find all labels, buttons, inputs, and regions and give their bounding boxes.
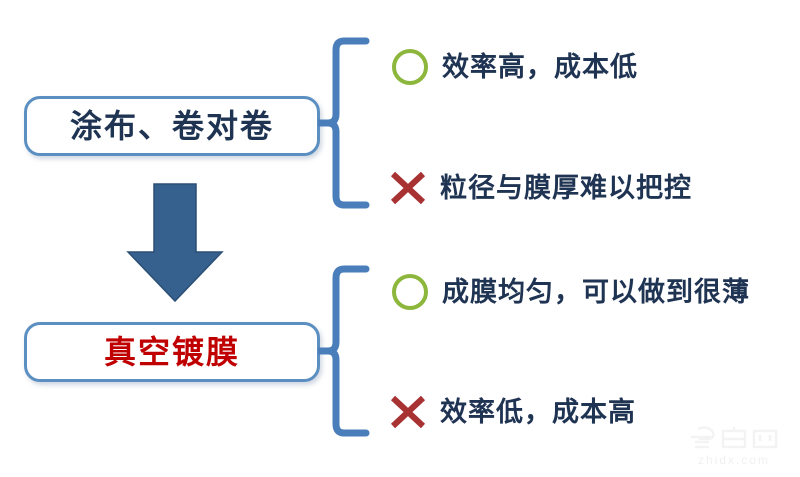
list-item-label: 效率高，成本低 (442, 54, 638, 81)
cross-con-icon (386, 166, 430, 210)
list-item-label: 成膜均匀，可以做到很薄 (442, 279, 750, 306)
watermark-url: zhidx.com (698, 454, 770, 466)
node-box-vacuum[interactable]: 真空镀膜 (24, 322, 320, 382)
circle-pro-icon (388, 270, 432, 314)
down-arrow-icon (120, 180, 230, 305)
list-item: 成膜均匀，可以做到很薄 (388, 270, 750, 314)
diagram-canvas: 涂布、卷对卷 真空镀膜 效率高，成本低 粒径与膜厚难以把控 成 (0, 0, 800, 477)
brace-bottom-icon (318, 264, 378, 438)
list-item: 效率低，成本高 (386, 390, 636, 434)
watermark: zhidx.com (676, 418, 792, 470)
list-item: 效率高，成本低 (388, 45, 638, 89)
node-label-vacuum: 真空镀膜 (104, 336, 240, 368)
node-label-coating: 涂布、卷对卷 (70, 110, 274, 142)
cross-con-icon (386, 390, 430, 434)
list-item-label: 效率低，成本高 (440, 399, 636, 426)
circle-pro-icon (388, 45, 432, 89)
node-box-coating[interactable]: 涂布、卷对卷 (24, 96, 320, 156)
list-item-label: 粒径与膜厚难以把控 (440, 175, 692, 202)
zhidx-logo-icon (686, 423, 782, 453)
list-item: 粒径与膜厚难以把控 (386, 166, 692, 210)
brace-top-icon (318, 36, 378, 210)
